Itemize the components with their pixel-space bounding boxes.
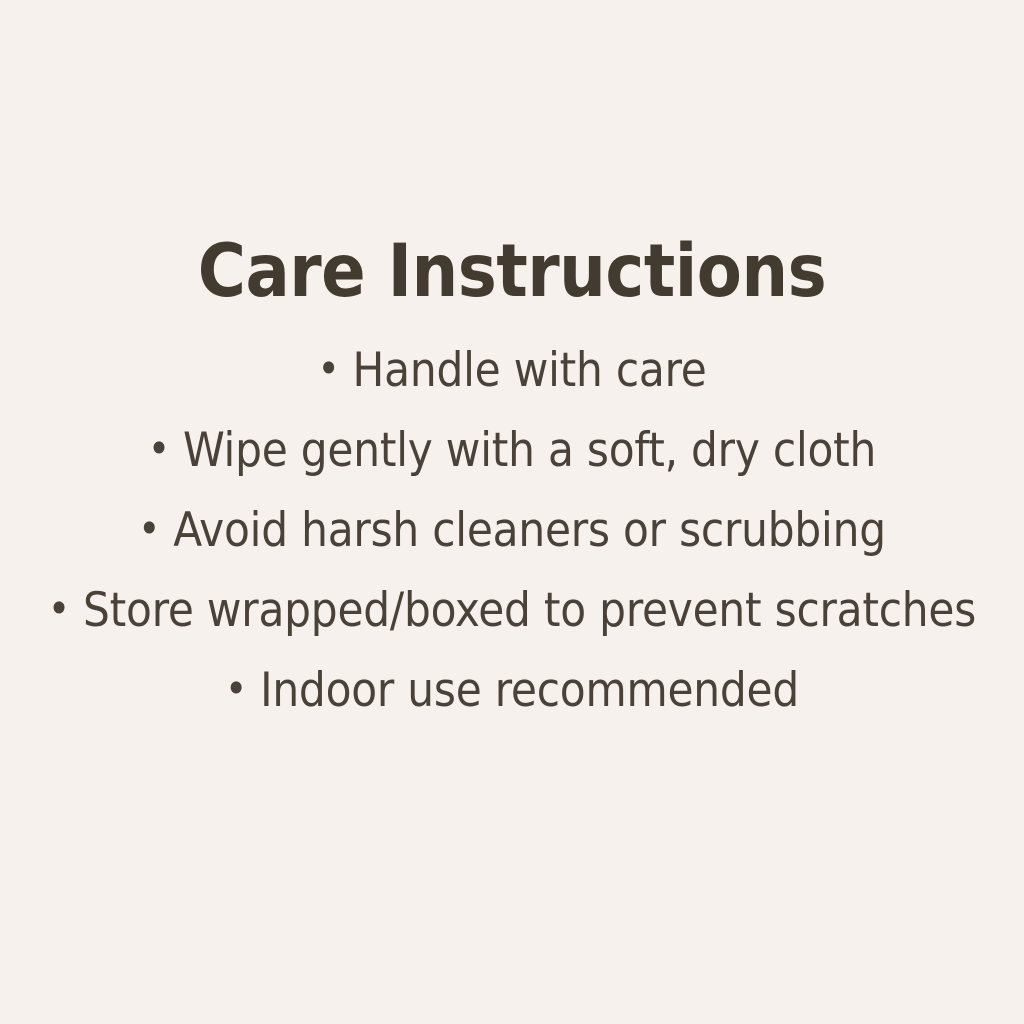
list-item-label: Store wrapped/boxed to prevent scratches <box>83 583 976 638</box>
list-item: •Handle with care <box>0 331 1024 411</box>
care-instructions-slide: Care Instructions •Handle with care •Wip… <box>0 0 1024 1024</box>
bullet-dot-icon: • <box>148 428 170 470</box>
list-item-label: Handle with care <box>353 343 707 398</box>
care-instructions-list: •Handle with care •Wipe gently with a so… <box>0 331 1024 731</box>
bullet-dot-icon: • <box>138 508 160 550</box>
list-item-label: Avoid harsh cleaners or scrubbing <box>173 503 886 558</box>
bullet-dot-icon: • <box>225 668 247 710</box>
list-item: •Store wrapped/boxed to prevent scratche… <box>0 571 1024 651</box>
list-item-label: Indoor use recommended <box>260 663 799 718</box>
bullet-dot-icon: • <box>317 348 339 390</box>
bullet-dot-icon: • <box>48 588 70 630</box>
list-item-label: Wipe gently with a soft, dry cloth <box>183 423 876 478</box>
page-title: Care Instructions <box>0 235 1024 308</box>
list-item: •Avoid harsh cleaners or scrubbing <box>0 491 1024 571</box>
list-item: •Indoor use recommended <box>0 651 1024 731</box>
list-item: •Wipe gently with a soft, dry cloth <box>0 411 1024 491</box>
